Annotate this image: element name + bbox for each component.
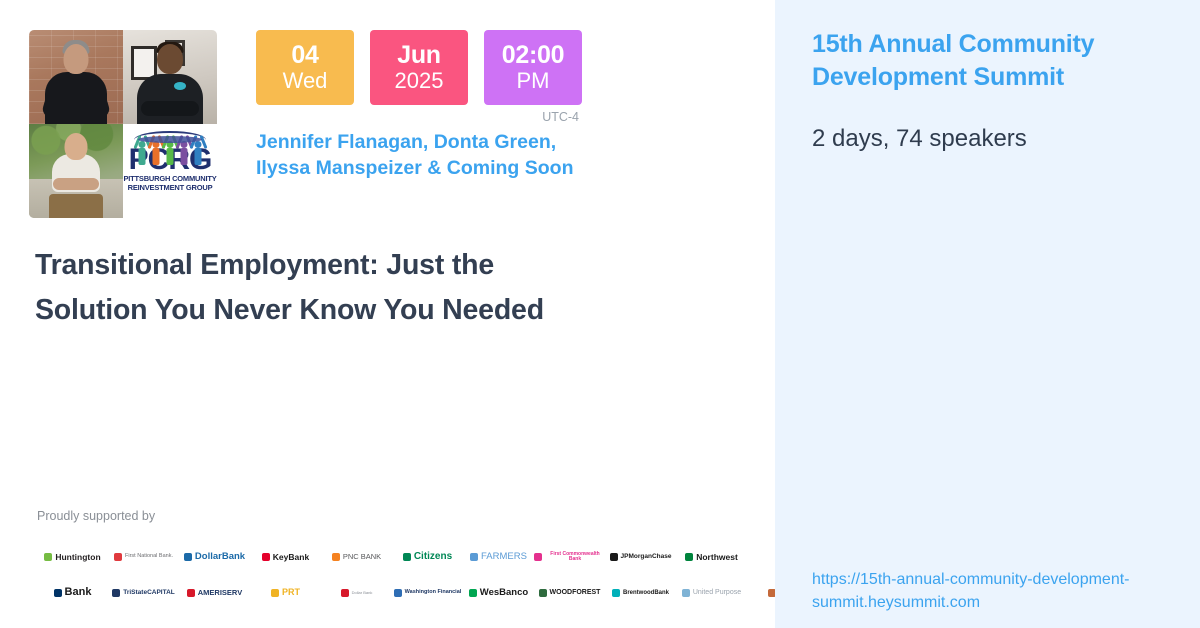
sponsor-logo-ameriserv[interactable]: AMERISERV <box>179 576 250 610</box>
sponsor-logo-label: PNC BANK <box>343 553 381 561</box>
sponsor-logo-mark-icon <box>112 589 120 597</box>
summit-title[interactable]: 15th Annual Community Development Summit <box>812 28 1172 95</box>
sponsor-logo-label: KeyBank <box>273 553 309 562</box>
sponsor-logo-st-bank[interactable]: Bank <box>37 576 108 610</box>
sponsor-logo-mark-icon <box>44 553 52 561</box>
day-number: 04 <box>291 42 318 68</box>
sponsor-logo-pnc-bank[interactable]: PNC BANK <box>321 540 392 574</box>
sponsor-logo-mark-icon <box>612 589 620 597</box>
sponsor-logo-mark-icon <box>534 553 542 561</box>
sponsor-logo-brentwood-bank[interactable]: BrentwoodBank <box>605 576 676 610</box>
time-value: 02:00 <box>502 42 564 68</box>
sponsor-logo-mark-icon <box>187 589 195 597</box>
time-badge: 02:00 PM <box>484 30 582 105</box>
sponsor-logo-mark-icon <box>470 553 478 561</box>
summit-url-link[interactable]: https://15th-annual-community-developmen… <box>812 568 1182 614</box>
month-name: Jun <box>397 42 441 68</box>
sponsor-logo-tristate-capital[interactable]: TriStateCAPITAL <box>108 576 179 610</box>
sponsor-logo-northwest-bank[interactable]: Northwest <box>676 540 747 574</box>
donta-green-photo <box>123 30 217 124</box>
sponsor-logo-dollar-bank-pin[interactable]: Dollar Bank <box>321 576 392 610</box>
year-value: 2025 <box>395 68 444 93</box>
sponsor-logo-first-national-bank[interactable]: First National Bank. <box>108 540 179 574</box>
sponsor-logo-mark-icon <box>262 553 270 561</box>
sponsor-logo-mark-icon <box>271 589 279 597</box>
sponsor-logo-label: Bank <box>65 587 92 599</box>
sponsor-logo-huntington[interactable]: Huntington <box>37 540 108 574</box>
sponsor-logo-dollar-bank-foundation[interactable]: DollarBank <box>179 540 250 574</box>
timezone-label: UTC-4 <box>256 110 601 124</box>
sponsor-logo-label: BrentwoodBank <box>623 590 669 596</box>
sponsor-logo-mark-icon <box>114 553 122 561</box>
sponsor-logo-label: DollarBank <box>195 552 245 562</box>
sponsor-logo-label: First Commonwealth Bank <box>545 552 605 563</box>
sponsor-logo-label: JPMorganChase <box>621 554 672 561</box>
photo-detail <box>49 194 103 218</box>
sponsor-logo-label: First National Bank. <box>125 554 173 560</box>
ilyssa-manspeizer-photo <box>29 124 123 218</box>
photo-detail <box>141 101 199 116</box>
sponsor-logo-mark-icon <box>341 589 349 597</box>
sponsor-logo-label: Huntington <box>55 553 100 562</box>
photo-detail <box>174 82 186 90</box>
sponsor-logo-washington-financial[interactable]: Washington Financial <box>392 576 463 610</box>
sponsor-logo-label: WOODFOREST <box>550 589 601 596</box>
sponsor-logo-mark-icon <box>469 589 477 597</box>
day-name: Wed <box>283 68 328 93</box>
sponsor-logo-mark-icon <box>332 553 340 561</box>
time-meridiem: PM <box>517 68 550 93</box>
summit-panel: 15th Annual Community Development Summit… <box>775 0 1200 628</box>
photo-detail <box>157 44 183 74</box>
sponsor-logo-farmers-national-bank[interactable]: FARMERS <box>463 540 534 574</box>
sponsor-logo-mark-icon <box>682 589 690 597</box>
sponsor-logo-rows: HuntingtonFirst National Bank.DollarBank… <box>37 539 767 628</box>
sponsor-row <box>37 611 767 628</box>
sponsor-logo-first-commonwealth-bank[interactable]: First Commonwealth Bank <box>534 540 605 574</box>
sponsor-logo-label: United Purpose <box>693 589 741 596</box>
sponsor-logo-mark-icon <box>685 553 693 561</box>
month-badge: Jun 2025 <box>370 30 468 105</box>
sponsor-logo-united-purpose[interactable]: United Purpose <box>676 576 747 610</box>
photo-detail <box>64 44 89 74</box>
date-badges: 04 Wed Jun 2025 02:00 PM <box>256 30 601 105</box>
event-preview-card: PCRG PITTSBURGH COMMUNITY REINVESTMENT G… <box>0 0 1200 628</box>
speaker-photo-grid: PCRG PITTSBURGH COMMUNITY REINVESTMENT G… <box>29 30 217 218</box>
sponsor-logo-label: PRT <box>282 588 300 597</box>
sponsor-logo-mark-icon <box>610 553 618 561</box>
session-panel: PCRG PITTSBURGH COMMUNITY REINVESTMENT G… <box>0 0 775 628</box>
sponsor-logo-label: WesBanco <box>480 588 528 598</box>
sponsor-logo-label: Northwest <box>696 553 738 562</box>
date-time-block: 04 Wed Jun 2025 02:00 PM UTC-4 Jennifer … <box>256 30 601 181</box>
pcrg-logo: PCRG PITTSBURGH COMMUNITY REINVESTMENT G… <box>123 124 217 218</box>
sponsor-logo-label: Citizens <box>414 552 452 563</box>
sponsors-label: Proudly supported by <box>37 509 767 523</box>
session-header: PCRG PITTSBURGH COMMUNITY REINVESTMENT G… <box>29 30 601 218</box>
speakers-list[interactable]: Jennifer Flanagan, Donta Green, Ilyssa M… <box>256 130 601 181</box>
sponsor-logo-label: FARMERS <box>481 552 527 562</box>
day-badge: 04 Wed <box>256 30 354 105</box>
sponsor-logo-woodforest-national-bank[interactable]: WOODFOREST <box>534 576 605 610</box>
sponsor-logo-prt[interactable]: PRT <box>250 576 321 610</box>
photo-detail <box>45 72 107 124</box>
sponsor-logo-label: AMERISERV <box>198 589 242 597</box>
pcrg-base-icon <box>138 136 202 143</box>
page-title: Transitional Employment: Just the Soluti… <box>35 243 595 333</box>
pcrg-figures-icon <box>136 129 205 167</box>
jennifer-flanagan-photo <box>29 30 123 124</box>
photo-detail <box>137 74 203 124</box>
summit-meta: 2 days, 74 speakers <box>812 123 1172 154</box>
photo-detail <box>53 178 99 190</box>
pcrg-subtitle-line2: REINVESTMENT GROUP <box>128 184 213 193</box>
sponsor-logo-partner-logo-cut-off[interactable] <box>37 612 108 628</box>
sponsor-logo-keybank[interactable]: KeyBank <box>250 540 321 574</box>
sponsor-logo-mark-icon <box>54 589 62 597</box>
sponsor-logo-wesbanco[interactable]: WesBanco <box>463 576 534 610</box>
sponsor-row: HuntingtonFirst National Bank.DollarBank… <box>37 539 767 575</box>
sponsor-logo-mark-icon <box>403 553 411 561</box>
sponsor-logo-label: Washington Financial <box>405 590 462 596</box>
sponsors-section: Proudly supported by HuntingtonFirst Nat… <box>37 509 767 628</box>
sponsor-logo-mark-icon <box>184 553 192 561</box>
sponsor-logo-label: TriStateCAPITAL <box>123 590 175 597</box>
photo-detail <box>65 133 88 160</box>
sponsor-logo-jpmorgan-chase[interactable]: JPMorganChase <box>605 540 676 574</box>
sponsor-row: BankTriStateCAPITALAMERISERVPRTDollar Ba… <box>37 575 767 611</box>
sponsor-logo-mark-icon <box>539 589 547 597</box>
sponsor-logo-citizens[interactable]: Citizens <box>392 540 463 574</box>
sponsor-logo-label: Dollar Bank <box>352 591 373 595</box>
sponsor-logo-mark-icon <box>394 589 402 597</box>
